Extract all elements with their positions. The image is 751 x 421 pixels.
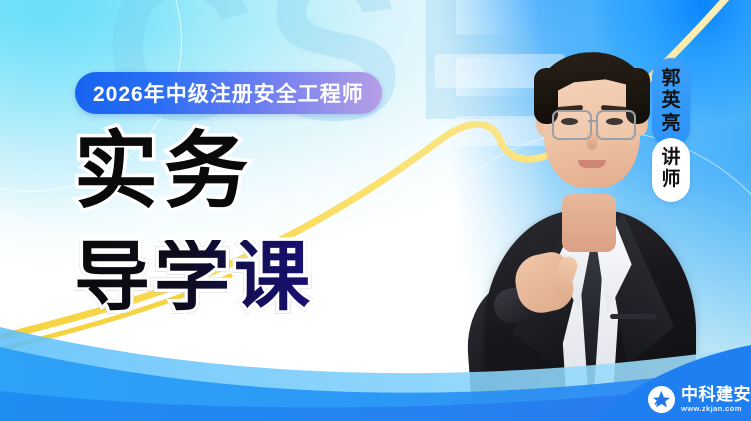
headline-line2: 导学课 — [74, 240, 314, 316]
glasses-lens-right-icon — [596, 110, 636, 140]
portrait-neck — [562, 194, 616, 252]
portrait-nose — [587, 130, 597, 150]
glasses-bridge-icon — [588, 120, 596, 122]
instructor-role-char-0: 讲 — [661, 147, 680, 169]
brand-name: 中科建安 — [681, 386, 751, 403]
brand-logo[interactable]: 中科建安 www.zkjan.com — [648, 386, 751, 413]
brand-logo-text: 中科建安 www.zkjan.com — [681, 386, 751, 413]
instructor-name-char-1: 英 — [661, 90, 680, 112]
instructor-role-char-1: 师 — [661, 169, 680, 191]
zkjan-star-icon — [648, 386, 675, 413]
instructor-name-char-2: 亮 — [661, 113, 680, 135]
course-badge: 2026年中级注册安全工程师 — [75, 72, 382, 114]
instructor-role-pill: 讲 师 — [652, 138, 690, 202]
instructor-name-char-0: 郭 — [661, 68, 680, 90]
glasses-lens-left-icon — [552, 110, 592, 140]
portrait-mouth — [578, 160, 606, 168]
course-poster: CSE — [0, 0, 751, 421]
headline-line1: 实务 — [74, 130, 254, 212]
course-badge-label: 2026年中级注册安全工程师 — [93, 78, 364, 108]
brand-url: www.zkjan.com — [681, 405, 751, 413]
instructor-name-pill: 郭 英 亮 — [652, 58, 690, 147]
